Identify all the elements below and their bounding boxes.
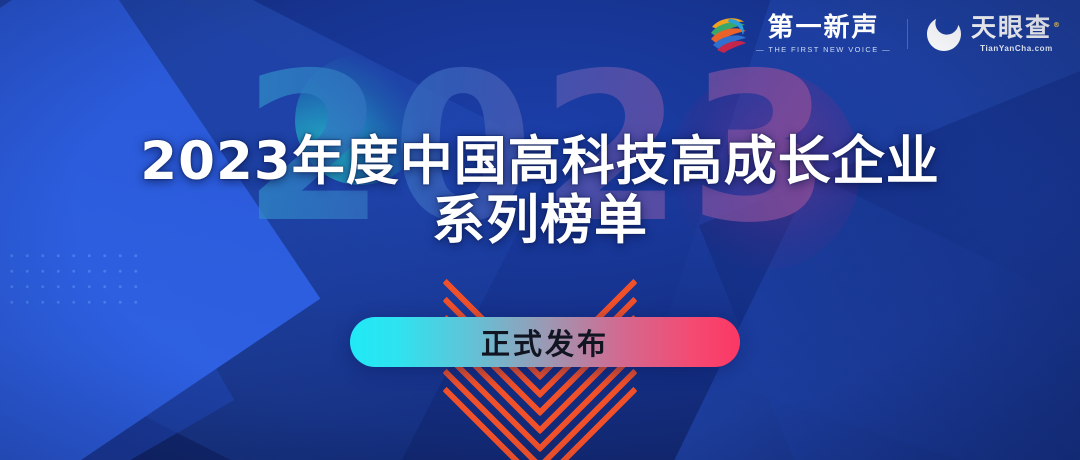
logo-tianyancha-cn: 天眼查® xyxy=(971,15,1062,40)
headline-line-2: 系列榜单 xyxy=(0,191,1080,250)
logo-diyixinsheng-tagline: — THE FIRST NEW VOICE — xyxy=(756,45,891,54)
logo-tianyancha[interactable]: 天眼查® TianYanCha.com xyxy=(924,14,1062,54)
chevron-icon xyxy=(442,275,637,460)
eye-aperture-logo-icon xyxy=(924,14,964,54)
page-title: 2023年度中国高科技高成长企业 系列榜单 xyxy=(0,132,1080,251)
promo-banner: 2023 2023年度中国高科技高成长企业 系列榜单 正式发布 xyxy=(0,0,1080,460)
logo-tianyancha-text: 天眼查® TianYanCha.com xyxy=(971,15,1062,53)
logo-tianyancha-tagline: TianYanCha.com xyxy=(980,44,1053,53)
logo-bar: 第一新声 — THE FIRST NEW VOICE — 天眼查® TianYa… xyxy=(707,13,1062,55)
logo-diyixinsheng-cn: 第一新声 xyxy=(768,15,880,41)
logo-tianyancha-cn-label: 天眼查 xyxy=(971,13,1052,42)
swirl-logo-icon xyxy=(707,13,749,55)
release-cta-button[interactable]: 正式发布 xyxy=(350,317,740,367)
release-cta-label: 正式发布 xyxy=(481,321,609,363)
logo-diyixinsheng-text: 第一新声 — THE FIRST NEW VOICE — xyxy=(756,15,891,54)
trademark-icon: ® xyxy=(1053,21,1062,29)
dot-grid-decoration xyxy=(4,248,150,310)
logo-diyixinsheng[interactable]: 第一新声 — THE FIRST NEW VOICE — xyxy=(707,13,891,55)
logo-divider xyxy=(907,19,908,49)
headline-line-1: 2023年度中国高科技高成长企业 xyxy=(140,131,940,192)
